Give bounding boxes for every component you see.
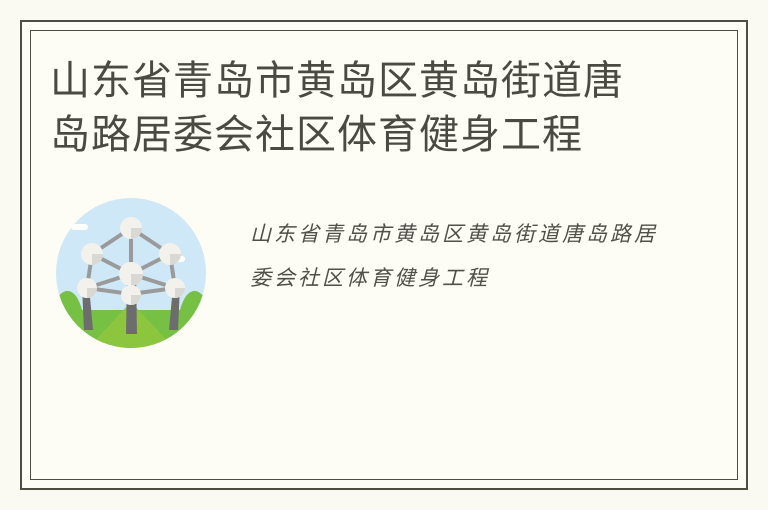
content-card: 山东省青岛市黄岛区黄岛街道唐岛路居委会社区体育健身工程 (20, 20, 748, 490)
media-row: 山东省青岛市黄岛区黄岛街道唐岛路居委会社区体育健身工程 (46, 198, 726, 358)
image-caption: 山东省青岛市黄岛区黄岛街道唐岛路居委会社区体育健身工程 (250, 212, 680, 300)
page-title: 山东省青岛市黄岛区黄岛街道唐岛路居委会社区体育健身工程 (50, 54, 650, 162)
atomium-monument-icon[interactable] (56, 198, 206, 348)
